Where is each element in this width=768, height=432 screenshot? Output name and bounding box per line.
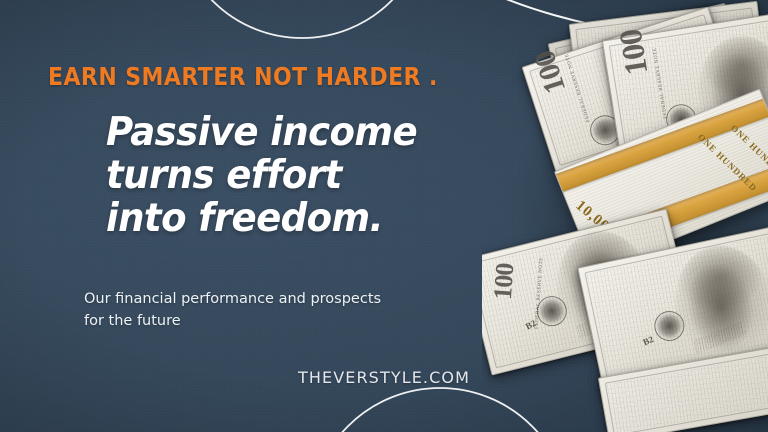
subheading-text: Our financial performance and prospects …	[84, 288, 384, 332]
eyebrow-headline: EARN SMARTER NOT HARDER .	[48, 62, 438, 91]
money-photo: 100 FEDERAL RESERVE NOTE 100 FEDERAL RES…	[482, 0, 768, 432]
main-headline: Passive income turns effort into freedom…	[106, 112, 420, 241]
presentation-slide: 100 FEDERAL RESERVE NOTE 100 FEDERAL RES…	[0, 0, 768, 432]
website-url: THEVERSTYLE.COM	[298, 368, 470, 387]
